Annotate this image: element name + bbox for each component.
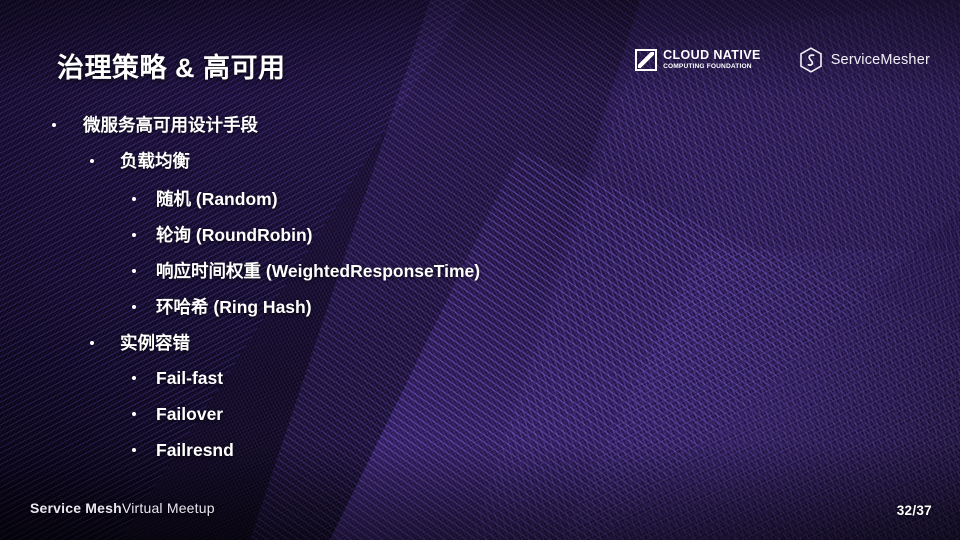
- servicemesher-logo: ServiceMesher: [799, 47, 930, 73]
- bullet-dot-icon: [90, 341, 94, 345]
- bullet-text: 负载均衡: [120, 148, 190, 173]
- bullet-dot-icon: [132, 376, 136, 380]
- slide-content: 治理策略 & 高可用 CLOUD NATIVE COMPUTING FOUNDA…: [0, 0, 960, 540]
- bullet-item-level3: Fail-fast: [0, 368, 960, 404]
- bullet-item-level3: Failover: [0, 404, 960, 440]
- bullet-text: 随机 (Random): [156, 186, 278, 211]
- bullet-dot-icon: [132, 412, 136, 416]
- bullet-item-level1: 微服务高可用设计手段: [0, 112, 960, 148]
- cncf-mark-icon: [635, 49, 657, 71]
- bullet-item-level3: 环哈希 (Ring Hash): [0, 294, 960, 330]
- bullet-dot-icon: [132, 233, 136, 237]
- bullet-text: 实例容错: [120, 330, 190, 355]
- footer-brand-bold: Service Mesh: [30, 500, 122, 516]
- bullet-dot-icon: [52, 123, 56, 127]
- bullet-item-level2: 实例容错: [0, 330, 960, 368]
- bullet-dot-icon: [90, 159, 94, 163]
- bullet-item-level3: 轮询 (RoundRobin): [0, 222, 960, 258]
- bullet-text: 轮询 (RoundRobin): [156, 222, 312, 247]
- footer-brand: Service MeshVirtual Meetup: [30, 500, 215, 516]
- servicemesher-label: ServiceMesher: [831, 52, 930, 68]
- bullet-dot-icon: [132, 448, 136, 452]
- cncf-logo-line1: CLOUD NATIVE: [663, 49, 761, 62]
- footer-brand-normal: Virtual Meetup: [122, 500, 215, 516]
- bullet-item-level3: Failresnd: [0, 440, 960, 476]
- page-title: 治理策略 & 高可用: [57, 46, 286, 85]
- bullet-text: 环哈希 (Ring Hash): [156, 294, 312, 319]
- hexagon-icon: [799, 47, 823, 73]
- bullet-text: Failresnd: [156, 440, 234, 461]
- bullet-dot-icon: [132, 197, 136, 201]
- bullet-text: Failover: [156, 404, 223, 425]
- cncf-logo-line2: COMPUTING FOUNDATION: [663, 64, 761, 71]
- logo-bar: CLOUD NATIVE COMPUTING FOUNDATION Servic…: [635, 47, 930, 73]
- cncf-logo-text: CLOUD NATIVE COMPUTING FOUNDATION: [663, 49, 761, 71]
- bullet-list: 微服务高可用设计手段 负载均衡 随机 (Random) 轮询 (RoundRob…: [0, 112, 960, 476]
- bullet-text: Fail-fast: [156, 368, 223, 389]
- cncf-logo: CLOUD NATIVE COMPUTING FOUNDATION: [635, 49, 761, 71]
- presentation-slide: 治理策略 & 高可用 CLOUD NATIVE COMPUTING FOUNDA…: [0, 0, 960, 540]
- bullet-text: 响应时间权重 (WeightedResponseTime): [156, 258, 480, 283]
- bullet-item-level2: 负载均衡: [0, 148, 960, 186]
- bullet-text: 微服务高可用设计手段: [83, 112, 258, 137]
- bullet-item-level3: 随机 (Random): [0, 186, 960, 222]
- bullet-dot-icon: [132, 305, 136, 309]
- page-number: 32/37: [897, 503, 932, 518]
- bullet-dot-icon: [132, 269, 136, 273]
- bullet-item-level3: 响应时间权重 (WeightedResponseTime): [0, 258, 960, 294]
